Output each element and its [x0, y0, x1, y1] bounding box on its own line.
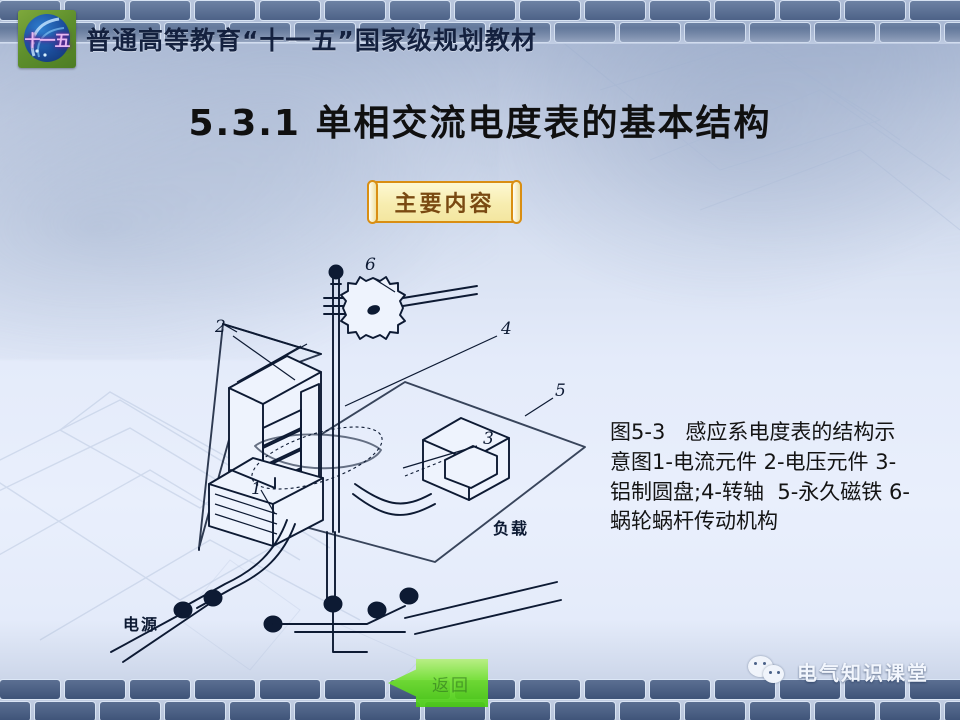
wechat-icon: [748, 656, 788, 686]
callout-4: 4: [500, 319, 512, 339]
badge-label: 主要内容: [367, 181, 522, 223]
watermark-text: 电气知识课堂: [797, 657, 929, 686]
figure-diagram: 2 6 4 3 1 5 电源 负载: [105, 232, 585, 642]
callout-6: 6: [365, 255, 376, 275]
return-button[interactable]: 返回: [388, 659, 488, 707]
logo-text: 十一五: [18, 10, 76, 68]
callout-2: 2: [214, 317, 226, 337]
header-bar: 十一五 普通高等教育“十一五”国家级规划教材: [18, 10, 537, 68]
header-title: 普通高等教育“十一五”国家级规划教材: [86, 21, 537, 57]
main-content-badge[interactable]: 主要内容: [367, 181, 522, 223]
label-source: 电源: [123, 615, 159, 634]
label-load: 负载: [493, 519, 529, 538]
return-label: 返回: [418, 659, 484, 707]
publisher-logo-icon: 十一五: [18, 10, 76, 68]
slide-canvas: 十一五 普通高等教育“十一五”国家级规划教材 5.3.1 单相交流电度表的基本结…: [0, 0, 960, 720]
page-title: 5.3.1 单相交流电度表的基本结构: [0, 94, 960, 146]
callout-5: 5: [555, 381, 566, 401]
figure-caption: 图5-3 感应系电度表的结构示意图1-电流元件 2-电压元件 3-铝制圆盘;4-…: [610, 418, 910, 537]
watermark: 电气知识课堂: [748, 656, 929, 686]
callout-3: 3: [483, 429, 494, 449]
callout-1: 1: [251, 479, 262, 499]
